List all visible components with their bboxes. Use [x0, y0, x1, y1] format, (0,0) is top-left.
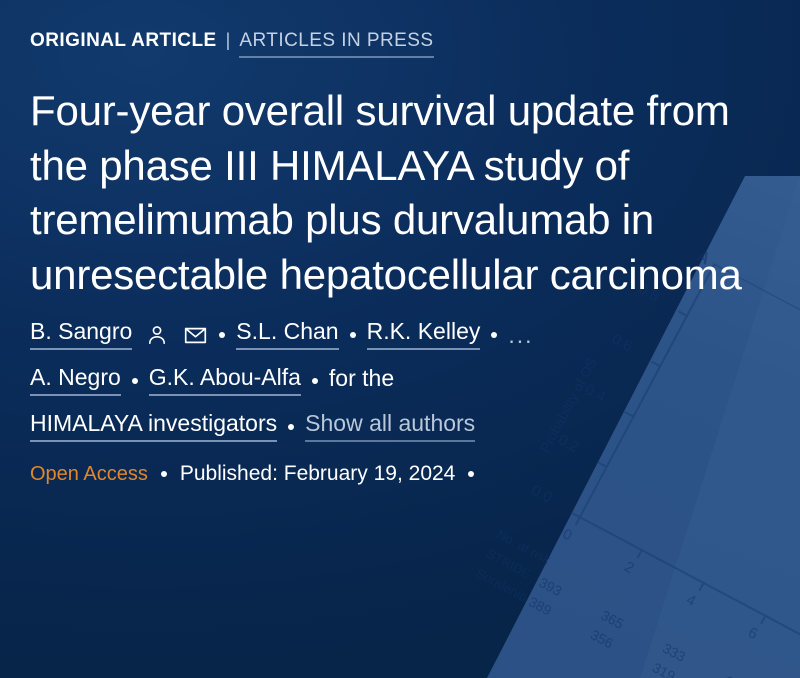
breadcrumb: ORIGINAL ARTICLE | ARTICLES IN PRESS — [30, 30, 800, 58]
published-date: Published: February 19, 2024 — [180, 462, 456, 486]
open-access-badge[interactable]: Open Access — [30, 463, 148, 486]
author-link-sangro[interactable]: B. Sangro — [30, 320, 132, 350]
author-separator-dot — [491, 332, 497, 338]
author-separator-dot — [350, 332, 356, 338]
author-group-prefix: for the — [329, 367, 394, 395]
show-all-authors-toggle[interactable]: Show all authors — [305, 412, 475, 442]
breadcrumb-separator: | — [226, 30, 231, 51]
author-link-abou-alfa[interactable]: G.K. Abou-Alfa — [149, 366, 301, 396]
author-separator-dot — [312, 378, 318, 384]
author-separator-dot — [288, 424, 294, 430]
email-author-icon[interactable] — [182, 322, 208, 348]
more-authors-ellipsis[interactable]: ... — [508, 324, 533, 347]
meta-separator-dot — [161, 471, 167, 477]
author-separator-dot — [132, 378, 138, 384]
article-hero-card: A 0.0 0.2 0.4 0.6 0.8 Probability of OS … — [0, 0, 800, 678]
author-line-1: B. Sangro S.L. Chan R.K. Kelle — [30, 320, 800, 350]
author-profile-icon[interactable] — [144, 322, 170, 348]
page-title[interactable]: Four-year overall survival update from t… — [30, 84, 770, 302]
author-line-3: HIMALAYA investigators Show all authors — [30, 412, 800, 442]
article-type-label: ORIGINAL ARTICLE — [30, 30, 217, 52]
author-line-2: A. Negro G.K. Abou-Alfa for the — [30, 366, 800, 396]
author-link-chan[interactable]: S.L. Chan — [236, 320, 338, 350]
meta-separator-dot — [468, 471, 474, 477]
author-link-himalaya-investigators[interactable]: HIMALAYA investigators — [30, 412, 277, 442]
articles-in-press-link[interactable]: ARTICLES IN PRESS — [239, 30, 433, 58]
author-list: B. Sangro S.L. Chan R.K. Kelle — [30, 320, 800, 442]
author-link-negro[interactable]: A. Negro — [30, 366, 121, 396]
author-link-kelley[interactable]: R.K. Kelley — [367, 320, 481, 350]
author-separator-dot — [219, 332, 225, 338]
article-header-content: ORIGINAL ARTICLE | ARTICLES IN PRESS Fou… — [0, 0, 800, 678]
article-meta: Open Access Published: February 19, 2024 — [30, 462, 800, 486]
